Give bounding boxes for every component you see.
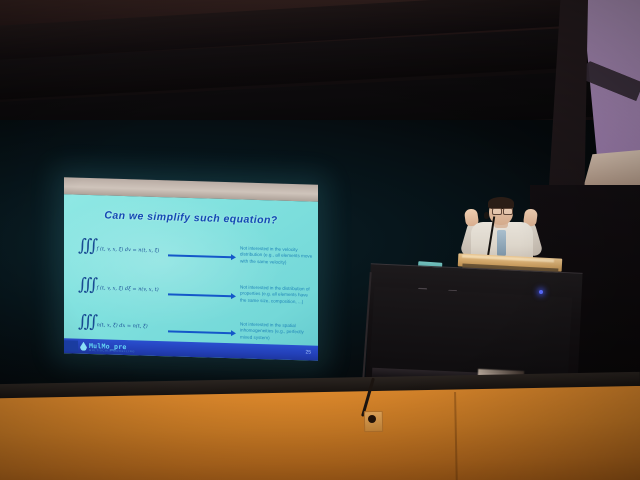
- triple-integral-icon: ∭: [78, 280, 95, 291]
- equation-3-text: n(t, x, ξ) dx = n(t, ξ): [97, 322, 148, 330]
- footer-left-tab: [64, 340, 78, 351]
- presentation-slide: Can we simplify such equation? ∭ f (t, v…: [64, 194, 318, 361]
- equipment-led-indicator: [539, 290, 543, 294]
- glasses-left-lens-icon: [492, 208, 502, 215]
- projection-screen: Can we simplify such equation? ∭ f (t, v…: [64, 177, 318, 361]
- speaker-shirt-front: [497, 230, 506, 256]
- slide-page-number: 25: [305, 349, 311, 355]
- arrow-right-icon-2: [168, 293, 232, 297]
- av-table-panel: [370, 287, 572, 382]
- slide-title: Can we simplify such equation?: [64, 208, 318, 228]
- equation-3: ∭ n(t, x, ξ) dx = n(t, ξ): [78, 319, 148, 332]
- stage-front-panel: [0, 386, 640, 480]
- slide-row: ∭ f (t, v, x, ξ) dv = n(t, x, ξ) Not int…: [64, 240, 318, 282]
- presentation-photo-scene: Can we simplify such equation? ∭ f (t, v…: [0, 0, 640, 480]
- triple-integral-icon: ∭: [78, 241, 95, 252]
- equation-2-text: f (t, v, x, ξ) dξ = n(v, x, t): [97, 285, 159, 293]
- wall-socket-hole: [368, 415, 376, 423]
- equation-1: ∭ f (t, v, x, ξ) dv = n(t, x, ξ): [78, 243, 159, 256]
- slide-note-2: Not interested in the distribution of pr…: [240, 284, 314, 305]
- arrow-right-icon-3: [168, 330, 232, 334]
- project-logo-subtitle: MULTISCALE MODELLING: [89, 348, 135, 352]
- slide-row: ∭ f (t, v, x, ξ) dξ = n(v, x, t) Not int…: [64, 279, 318, 321]
- slide-note-1: Not interested in the velocity distribut…: [240, 245, 314, 266]
- microphone-icon: [484, 212, 489, 219]
- triple-integral-icon: ∭: [78, 317, 95, 328]
- equation-2: ∭ f (t, v, x, ξ) dξ = n(v, x, t): [78, 282, 159, 295]
- slide-note-3: Not interested in the spatial inhomogene…: [240, 321, 314, 342]
- arrow-right-icon-1: [168, 254, 232, 258]
- glasses-right-lens-icon: [503, 208, 513, 215]
- water-drop-icon: [80, 342, 87, 351]
- equation-1-text: f (t, v, x, ξ) dv = n(t, x, ξ): [97, 246, 160, 254]
